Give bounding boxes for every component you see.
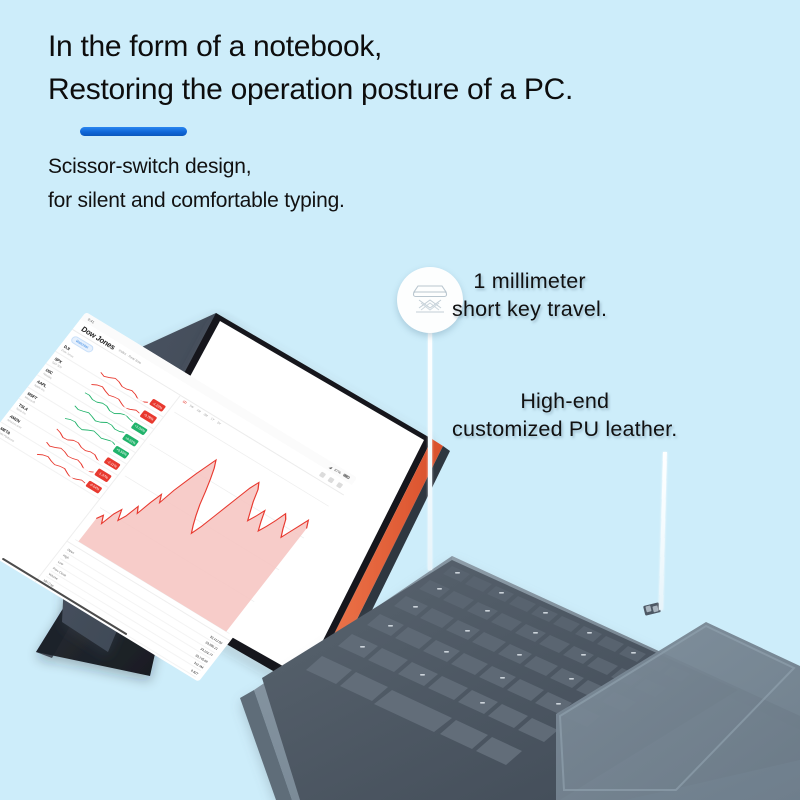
range-tab-3m[interactable]: 3M	[203, 412, 209, 417]
range-tab-1m[interactable]: 1M	[196, 408, 202, 413]
keycap-scissor-switch-glyph	[408, 281, 452, 319]
range-tab-1d[interactable]: 1D	[182, 400, 188, 405]
callout-key-travel: 1 millimeter short key travel.	[452, 268, 607, 323]
share-icon[interactable]	[328, 476, 335, 483]
stats-value: 9.82T	[190, 668, 199, 675]
subheading: Scissor-switch design, for silent and co…	[48, 150, 345, 217]
headline-line-1: In the form of a notebook,	[48, 30, 382, 63]
callout-pu-leather-line-2: customized PU leather.	[452, 416, 677, 444]
subhead-line-2: for silent and comfortable typing.	[48, 184, 345, 218]
callout-pu-leather-line-1: High-end	[452, 388, 677, 416]
status-time: 9:41	[87, 317, 95, 324]
callout-key-travel-line-1: 1 millimeter	[452, 268, 607, 296]
battery-percent: 87%	[334, 468, 343, 475]
subhead-line-1: Scissor-switch design,	[48, 155, 251, 178]
search-icon[interactable]	[319, 471, 326, 478]
range-tab-5y[interactable]: 5Y	[216, 421, 222, 426]
more-icon[interactable]	[336, 482, 343, 489]
page-title: In the form of a notebook, Restoring the…	[48, 26, 573, 111]
accent-divider	[80, 127, 187, 136]
callout-key-travel-line-2: short key travel.	[452, 296, 607, 324]
wifi-icon: ◢	[329, 465, 334, 470]
range-tab-1w[interactable]: 1W	[188, 404, 194, 410]
battery-icon	[342, 473, 350, 479]
stats-label: Low	[57, 560, 64, 566]
marketing-banner: 9:41 ◢ 87% Dow Jones Index · Real time W…	[0, 0, 800, 800]
headline-line-2: Restoring the operation posture of a PC.	[48, 69, 573, 112]
range-tab-1y[interactable]: 1Y	[210, 417, 216, 422]
callout-connector-key-travel	[428, 330, 432, 570]
stats-label: High	[62, 554, 70, 561]
change-badge: -0.64%	[85, 480, 102, 494]
callout-pu-leather: High-end customized PU leather.	[452, 388, 677, 443]
